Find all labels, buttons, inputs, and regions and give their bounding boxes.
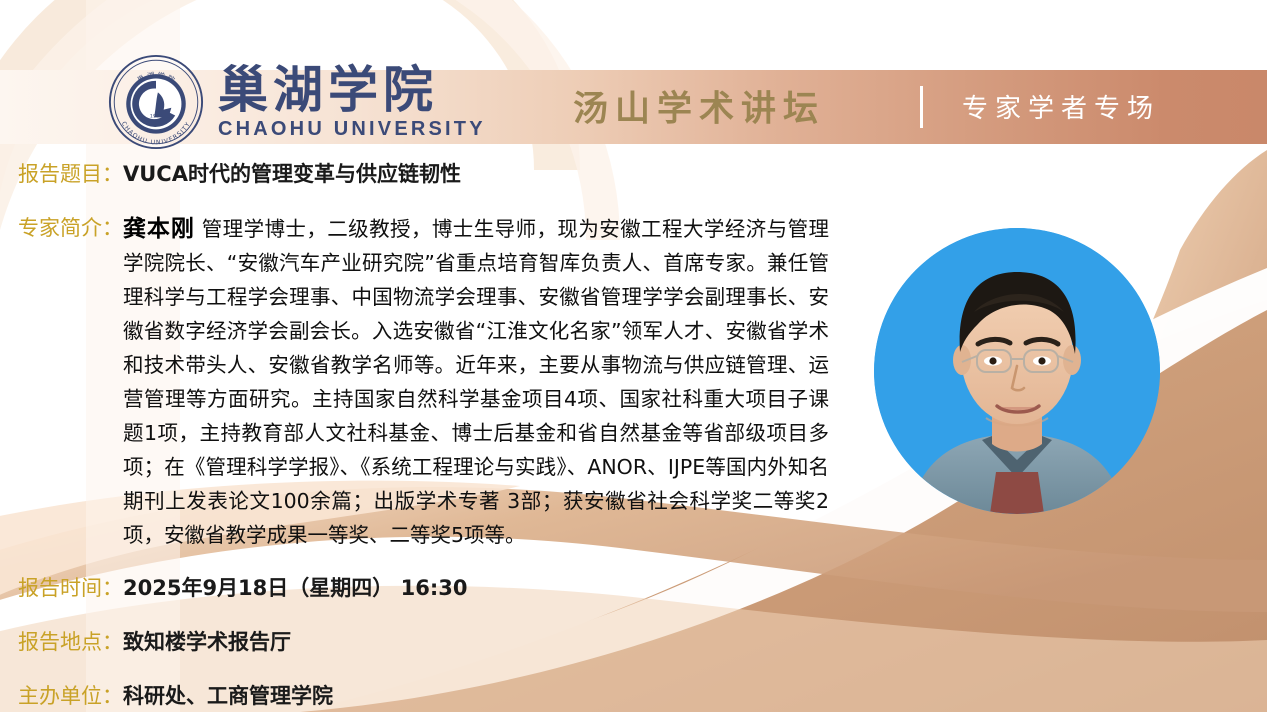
speaker-bio-label: 专家简介： [18,212,123,242]
banner-title: 汤山学术讲坛 [573,80,825,131]
university-logo: 1977 巢 湖 学 院 CHAOHU UNIVERSITY 巢湖学院 CHAO… [108,54,486,150]
report-title-value: VUCA时代的管理变革与供应链韧性 [123,158,461,188]
report-title-row: 报告题目： VUCA时代的管理变革与供应链韧性 [18,158,461,188]
report-title-label: 报告题目： [18,158,123,188]
speaker-bio-text: 龚本刚 管理学博士，二级教授，博士生导师，现为安徽工程大学经济与管理学院院长、“… [123,212,829,552]
organizer-label: 主办单位： [18,680,123,710]
svg-text:1977: 1977 [150,113,162,119]
report-time-row: 报告时间： 2025年9月18日（星期四） 16:30 [18,572,467,602]
speaker-name: 龚本刚 [123,216,195,242]
speaker-bio-paragraph: 管理学博士，二级教授，博士生导师，现为安徽工程大学经济与管理学院院长、“安徽汽车… [123,217,829,547]
university-seal-icon: 1977 巢 湖 学 院 CHAOHU UNIVERSITY [108,54,204,150]
report-place-row: 报告地点： 致知楼学术报告厅 [18,626,291,656]
report-time-label: 报告时间： [18,572,123,602]
report-place-label: 报告地点： [18,626,123,656]
banner-subtitle: 专家学者专场 [962,88,1160,125]
poster-canvas: 汤山学术讲坛 专家学者专场 1977 巢 湖 学 院 CHAOHU UNIVER… [0,0,1267,712]
banner-divider [920,86,923,128]
organizer-value: 科研处、工商管理学院 [123,680,333,710]
report-time-value: 2025年9月18日（星期四） 16:30 [123,572,467,602]
university-name-cn: 巢湖学院 [218,64,486,115]
report-place-value: 致知楼学术报告厅 [123,626,291,656]
speaker-photo [874,228,1160,514]
university-name-en: CHAOHU UNIVERSITY [218,118,486,141]
speaker-bio-row: 专家简介： 龚本刚 管理学博士，二级教授，博士生导师，现为安徽工程大学经济与管理… [18,212,829,552]
organizer-row: 主办单位： 科研处、工商管理学院 [18,680,333,710]
speaker-portrait [874,228,1160,514]
